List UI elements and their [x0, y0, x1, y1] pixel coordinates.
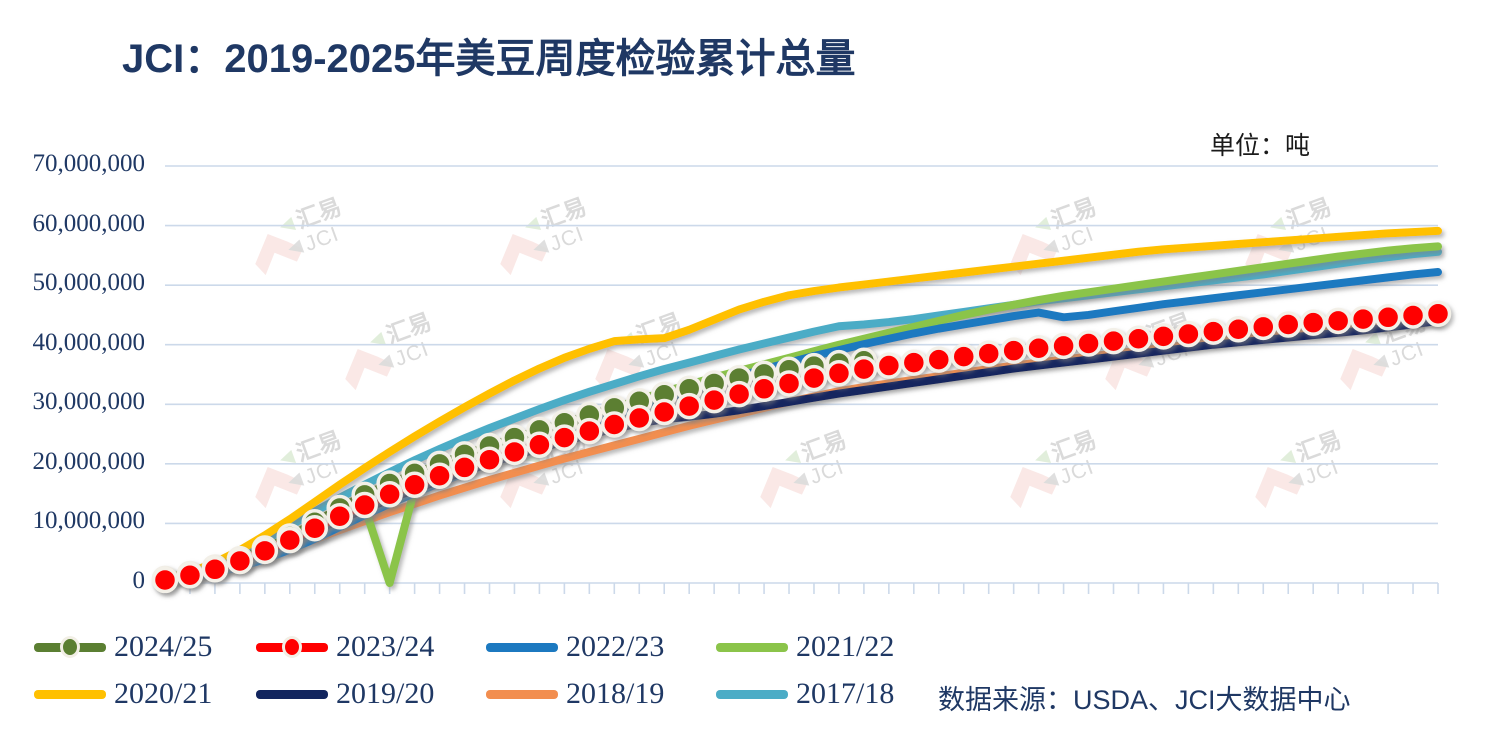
legend-label: 2017/18 — [796, 679, 894, 709]
series-2022-23 — [165, 272, 1438, 581]
y-axis-label: 60,000,000 — [0, 210, 145, 238]
legend-item-2023-24[interactable]: 2023/24 — [256, 630, 434, 664]
legend-swatch-icon — [34, 683, 106, 705]
legend-swatch-icon — [486, 683, 558, 705]
legend-item-2017-18[interactable]: 2017/18 — [716, 677, 894, 711]
legend-item-2022-23[interactable]: 2022/23 — [486, 630, 664, 664]
chart-legend: 2024/252023/242022/232021/222020/212019/… — [34, 630, 934, 720]
y-axis-label: 0 — [0, 567, 145, 595]
legend-label: 2018/19 — [566, 679, 664, 709]
legend-swatch-icon — [716, 636, 788, 658]
legend-item-2019-20[interactable]: 2019/20 — [256, 677, 434, 711]
legend-item-2018-19[interactable]: 2018/19 — [486, 677, 664, 711]
legend-swatch-icon — [256, 636, 328, 658]
watermark: 汇易JCI — [332, 309, 444, 392]
legend-item-2021-22[interactable]: 2021/22 — [716, 630, 894, 664]
source-label: 数据来源：USDA、JCI大数据中心 — [938, 678, 1351, 717]
x-axis-ticks — [165, 583, 1438, 594]
legend-swatch-icon — [716, 683, 788, 705]
legend-label: 2019/20 — [336, 679, 434, 709]
watermark: 汇易JCI — [487, 194, 599, 277]
legend-swatch-icon — [34, 636, 106, 658]
legend-swatch-icon — [486, 636, 558, 658]
y-axis-label: 70,000,000 — [0, 150, 145, 178]
legend-item-2020-21[interactable]: 2020/21 — [34, 677, 212, 711]
legend-label: 2022/23 — [566, 632, 664, 662]
watermark: 汇易JCI — [242, 194, 354, 277]
series-2017-18 — [165, 252, 1438, 578]
y-axis-label: 10,000,000 — [0, 507, 145, 535]
y-axis-label: 20,000,000 — [0, 448, 145, 476]
watermark: 汇易JCI — [747, 427, 859, 510]
y-axis-label: 40,000,000 — [0, 329, 145, 357]
y-axis-label: 30,000,000 — [0, 388, 145, 416]
watermark: 汇易JCI — [997, 427, 1109, 510]
legend-label: 2024/25 — [114, 632, 212, 662]
legend-label: 2021/22 — [796, 632, 894, 662]
y-axis-label: 50,000,000 — [0, 269, 145, 297]
legend-swatch-icon — [256, 683, 328, 705]
legend-item-2024-25[interactable]: 2024/25 — [34, 630, 212, 664]
legend-label: 2023/24 — [336, 632, 434, 662]
chart-root: JCI：2019-2025年美豆周度检验累计总量 单位：吨 汇易JCI汇易JCI… — [0, 0, 1489, 747]
legend-label: 2020/21 — [114, 679, 212, 709]
watermark: 汇易JCI — [1242, 427, 1354, 510]
